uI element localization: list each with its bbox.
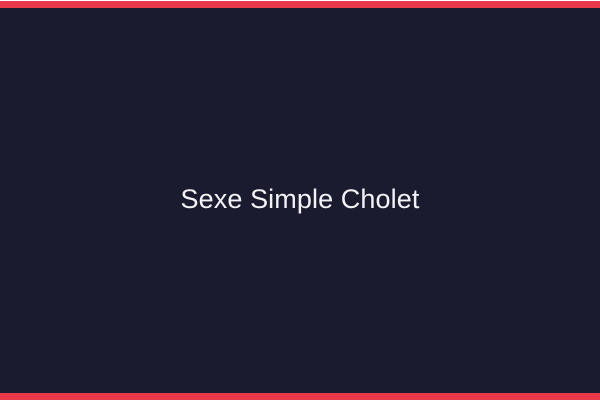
top-accent-bar: [0, 1, 600, 8]
bottom-accent-bar: [0, 393, 600, 400]
banner-body: Sexe Simple Cholet: [0, 8, 600, 393]
page-title: Sexe Simple Cholet: [181, 183, 420, 215]
placeholder-banner: Sexe Simple Cholet: [0, 0, 600, 400]
